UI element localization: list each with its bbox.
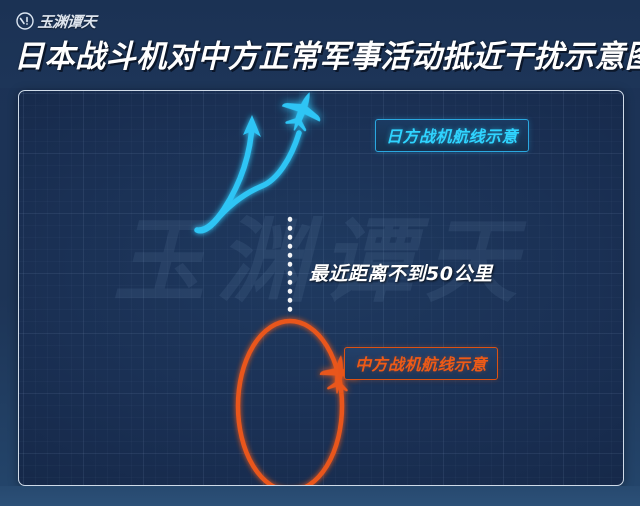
page-title: 日本战斗机对中方正常军事活动抵近干扰示意图	[14, 38, 613, 76]
label-china-route: 中方战机航线示意	[344, 347, 498, 380]
infographic-root: 玉渊谭天 日本战斗机对中方正常军事活动抵近干扰示意图 玉渊谭天	[0, 0, 640, 506]
china-flight-path	[238, 321, 342, 485]
label-closest-distance: 最近距离不到50公里	[309, 259, 492, 286]
japan-fighter-jet-icon	[275, 91, 328, 138]
flight-paths-graphic	[19, 91, 623, 485]
brush-seal-icon	[16, 12, 34, 30]
bottom-strip	[0, 486, 640, 506]
brand-name: 玉渊谭天	[37, 11, 97, 32]
diagram-panel: 玉渊谭天	[18, 90, 624, 486]
brand-logo: 玉渊谭天	[16, 8, 96, 34]
label-japan-route: 日方战机航线示意	[375, 119, 529, 152]
japan-flight-path	[197, 115, 299, 231]
header-bar: 玉渊谭天 日本战斗机对中方正常军事活动抵近干扰示意图	[0, 0, 640, 88]
